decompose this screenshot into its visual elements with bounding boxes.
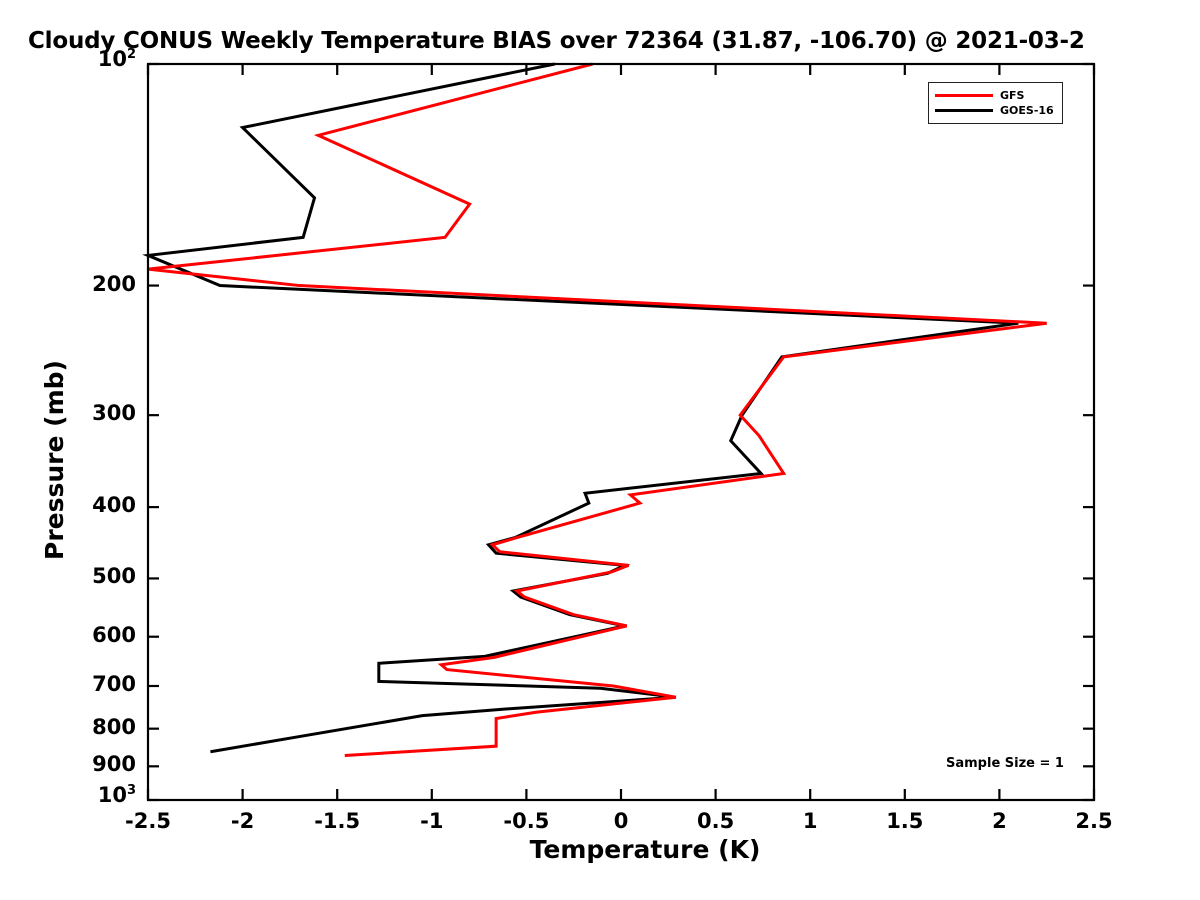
y-tick-label: 103 (56, 783, 136, 807)
x-tick-label: -0.5 (481, 809, 571, 833)
y-tick-label: 900 (56, 752, 136, 776)
y-tick-label: 700 (56, 672, 136, 696)
y-axis-title: Pressure (mb) (40, 360, 69, 560)
x-tick-label: 1.5 (860, 809, 950, 833)
x-tick-label: -2.5 (103, 809, 193, 833)
legend-item-gfs: GFS (935, 88, 1054, 103)
y-tick-label: 800 (56, 715, 136, 739)
legend-item-goes16: GOES-16 (935, 103, 1054, 118)
legend-swatch-gfs-icon (935, 94, 993, 97)
y-tick-label: 102 (56, 47, 136, 71)
x-tick-label: -1.5 (292, 809, 382, 833)
x-tick-label: 0.5 (671, 809, 761, 833)
chart-figure: Cloudy CONUS Weekly Temperature BIAS ove… (0, 0, 1200, 900)
x-tick-label: 2 (954, 809, 1044, 833)
legend-label-gfs: GFS (1000, 89, 1024, 102)
legend: GFS GOES-16 (928, 82, 1063, 124)
x-tick-label: 2.5 (1049, 809, 1139, 833)
x-tick-label: -2 (198, 809, 288, 833)
legend-label-goes16: GOES-16 (1000, 104, 1054, 117)
y-tick-label: 200 (56, 272, 136, 296)
sample-size-annotation: Sample Size = 1 (946, 756, 1064, 771)
y-tick-label: 600 (56, 623, 136, 647)
x-tick-label: -1 (387, 809, 477, 833)
legend-swatch-goes16-icon (935, 109, 993, 112)
x-tick-label: 1 (765, 809, 855, 833)
series-layer (148, 64, 1047, 755)
x-tick-label: 0 (576, 809, 666, 833)
x-axis-title: Temperature (K) (0, 835, 1200, 864)
x-axis-title-text: Temperature (K) (440, 835, 761, 864)
y-tick-label: 500 (56, 564, 136, 588)
